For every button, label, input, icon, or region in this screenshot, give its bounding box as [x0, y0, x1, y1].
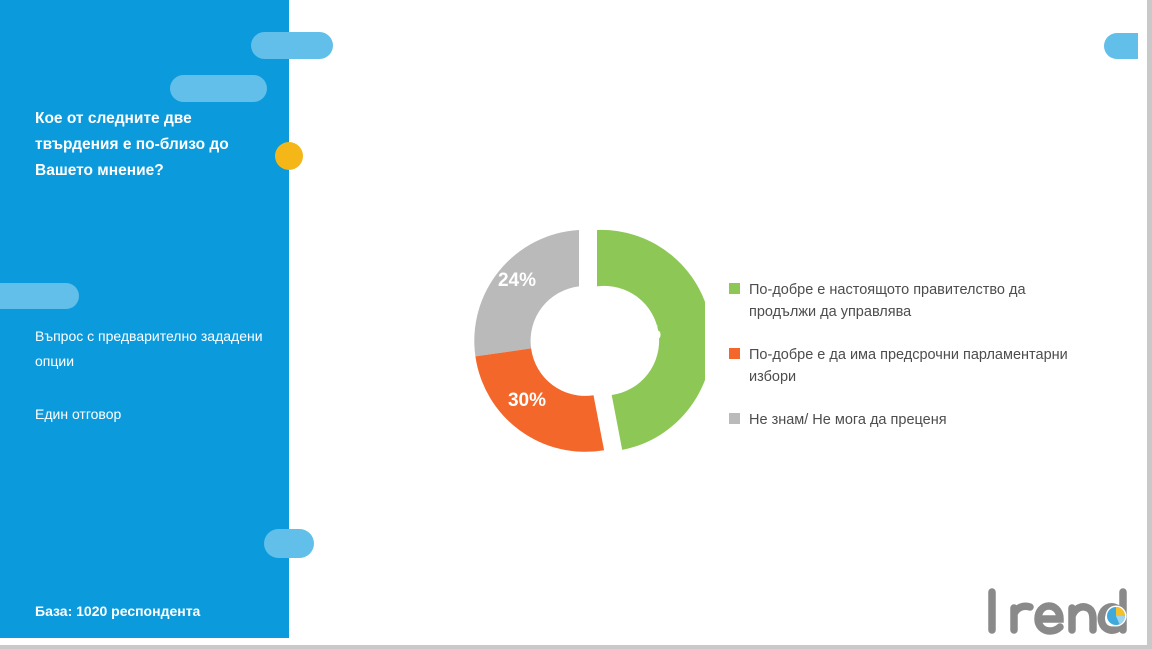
- legend-label-early-elections: По-добре е да има предсрочни парламентар…: [749, 344, 1069, 388]
- legend-swatch-green: [729, 283, 740, 294]
- decorative-pill-left: [0, 283, 79, 309]
- question-title: Кое от следните две твърдения е по-близо…: [35, 106, 270, 184]
- logo-letter-n: [1072, 607, 1093, 630]
- donut-chart: 46% 30% 24%: [455, 212, 705, 468]
- decorative-pill-top-inner: [170, 75, 267, 102]
- logo-letter-r: [1014, 606, 1030, 630]
- trend-logo: [984, 586, 1134, 642]
- legend-item-current-government[interactable]: По-добре е настоящото правителство да пр…: [729, 279, 1069, 323]
- donut-slice-dont-know: [474, 230, 579, 356]
- page-frame-edge-bottom: [0, 645, 1152, 649]
- legend-swatch-gray: [729, 413, 740, 424]
- legend-label-current-government: По-добре е настоящото правителство да пр…: [749, 279, 1069, 323]
- legend-swatch-orange: [729, 348, 740, 359]
- answer-mode-label: Един отговор: [35, 402, 265, 427]
- page-frame-gap-right: [1138, 0, 1147, 649]
- slice-label-orange: 30%: [508, 390, 546, 411]
- legend-label-dont-know: Не знам/ Не мога да преценя: [749, 409, 947, 431]
- donut-chart-svg: 46% 30% 24%: [455, 212, 705, 468]
- slide-canvas: Кое от следните две твърдения е по-близо…: [0, 0, 1152, 649]
- logo-letter-e: [1038, 606, 1060, 631]
- trend-logo-svg: [984, 586, 1134, 642]
- slice-label-gray: 24%: [498, 270, 536, 291]
- decorative-pill-bottom: [264, 529, 314, 558]
- question-type-label: Въпрос с предварително зададени опции: [35, 324, 265, 374]
- base-respondents-label: База: 1020 респондента: [35, 603, 200, 619]
- page-frame-edge-right: [1147, 0, 1152, 649]
- decorative-pill-top-crossing: [251, 32, 333, 59]
- slice-label-green: 46%: [623, 323, 661, 344]
- legend-item-early-elections[interactable]: По-добре е да има предсрочни парламентар…: [729, 344, 1069, 388]
- legend-item-dont-know[interactable]: Не знам/ Не мога да преценя: [729, 409, 1069, 431]
- chart-legend: По-добре е настоящото правителство да пр…: [729, 279, 1069, 431]
- decorative-dot-yellow: [275, 142, 303, 170]
- logo-pie-icon: [1106, 606, 1127, 627]
